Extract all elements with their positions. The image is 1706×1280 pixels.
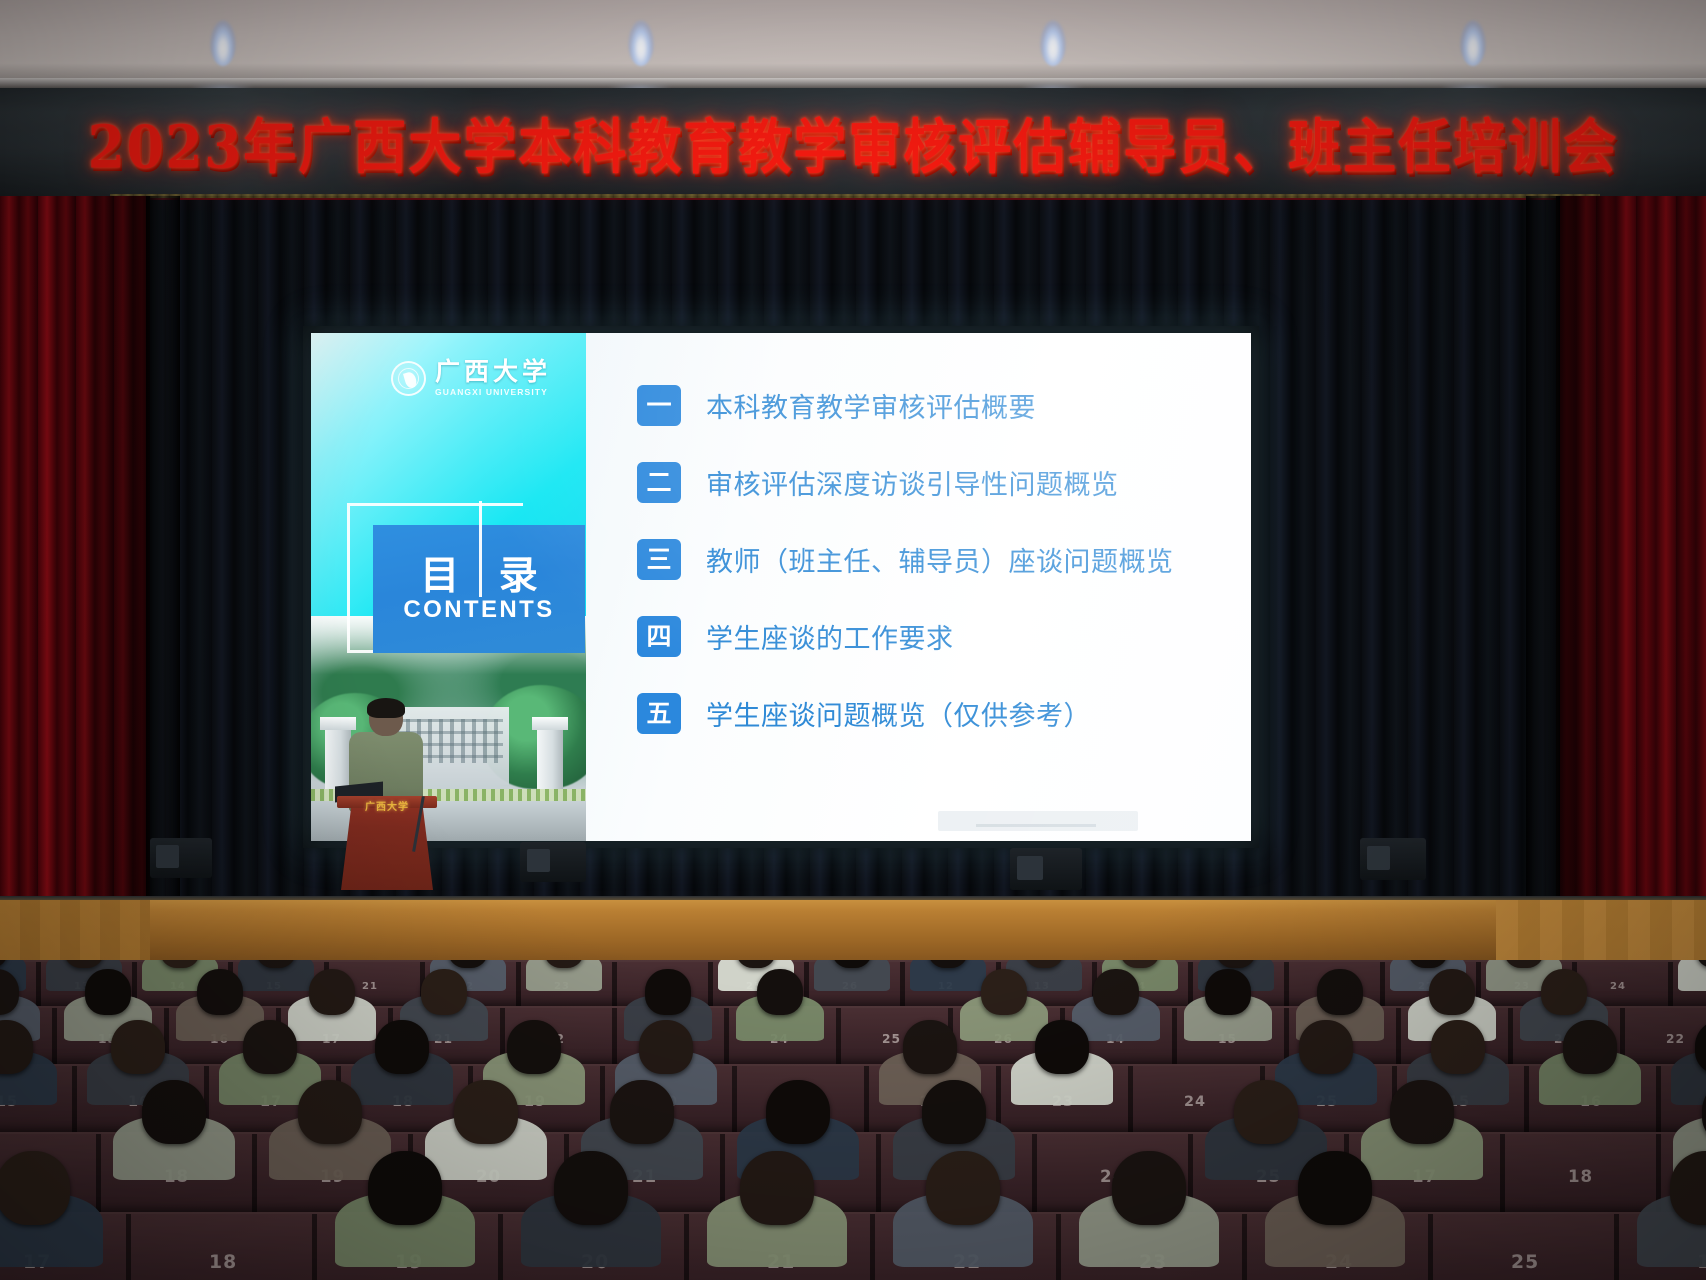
ceiling-spotlight-icon <box>1040 20 1066 66</box>
seat-divider <box>312 1214 317 1280</box>
toc-number-badge: 三 <box>637 539 681 580</box>
seat-divider <box>126 1214 131 1280</box>
audience-member-head <box>1299 1020 1353 1074</box>
stage-monitor-speaker <box>1010 848 1082 890</box>
seat-number: 22 <box>1666 1032 1685 1046</box>
toc-item: 一 本科教育教学审核评估概要 <box>637 385 1227 426</box>
seat-divider <box>1056 1214 1061 1280</box>
ceiling <box>0 0 1706 88</box>
seat-divider <box>1242 1214 1247 1280</box>
ceiling-spotlight-icon <box>1460 20 1486 66</box>
curtain-shading <box>1556 196 1706 908</box>
stage-monitor-speaker <box>520 842 586 882</box>
audience-member-head <box>1035 1020 1089 1074</box>
audience-member-head <box>1234 1080 1298 1144</box>
audience-member-head <box>1298 1151 1372 1225</box>
audience-member-head <box>142 1080 206 1144</box>
audience-member-head <box>554 1151 628 1225</box>
toc-item-label: 学生座谈问题概览（仅供参考） <box>706 694 1091 733</box>
audience-member-head <box>766 1080 830 1144</box>
slide-right-panel: 一 本科教育教学审核评估概要 二 审核评估深度访谈引导性问题概览 三 教师（班主… <box>586 333 1251 841</box>
toc-item: 四 学生座谈的工作要求 <box>637 616 1227 657</box>
slide-footer-placeholder <box>938 811 1138 831</box>
audience-member-head <box>298 1080 362 1144</box>
audience-member-head <box>740 1151 814 1225</box>
audience-member-head <box>926 1151 1000 1225</box>
audience-member-head <box>1563 1020 1617 1074</box>
seat-number: 21 <box>362 981 378 992</box>
audience-member-head <box>1093 969 1139 1015</box>
audience-seating: 1213141521222324252612131415212223242526… <box>0 960 1706 1280</box>
toc-item-label: 审核评估深度访谈引导性问题概览 <box>706 463 1119 502</box>
toc-number-badge: 二 <box>637 462 681 503</box>
event-banner-title: 2023年广西大学本科教育教学审核评估辅导员、班主任培训会 <box>0 95 1706 191</box>
audience-row: 17181920212223242517 <box>0 1212 1706 1280</box>
audience-member-head <box>610 1080 674 1144</box>
seat-divider <box>1428 1214 1433 1280</box>
toc-item: 五 学生座谈问题概览（仅供参考） <box>637 693 1227 734</box>
slide-table-of-contents: 一 本科教育教学审核评估概要 二 审核评估深度访谈引导性问题概览 三 教师（班主… <box>637 385 1227 734</box>
seat-number: 18 <box>1568 1167 1593 1186</box>
ceiling-spotlight-icon <box>210 20 236 66</box>
toc-item: 三 教师（班主任、辅导员）座谈问题概览 <box>637 539 1227 580</box>
curtain-shading <box>0 196 150 908</box>
projection-screen: 广西大学 GUANGXI UNIVERSITY 目 录 CONTENTS <box>311 333 1251 841</box>
toc-item-label: 教师（班主任、辅导员）座谈问题概览 <box>706 540 1174 579</box>
audience-member-head <box>85 969 131 1015</box>
toc-item: 二 审核评估深度访谈引导性问题概览 <box>637 462 1227 503</box>
toc-number-badge: 四 <box>637 616 681 657</box>
seat-divider <box>684 1214 689 1280</box>
audience-member-head <box>1541 969 1587 1015</box>
audience-member-head <box>368 1151 442 1225</box>
speaker-hair <box>367 698 405 718</box>
audience-member-head <box>757 969 803 1015</box>
seat-number: 24 <box>1610 981 1626 992</box>
audience-member-head <box>309 969 355 1015</box>
ceiling-spotlight-icon <box>628 20 654 66</box>
audience-member-head <box>454 1080 518 1144</box>
audience-member-head <box>1431 1020 1485 1074</box>
contents-title-en: CONTENTS <box>403 598 554 622</box>
stage-monitor-speaker <box>1360 838 1426 880</box>
audience-member-head <box>421 969 467 1015</box>
audience-member-head <box>243 1020 297 1074</box>
drape-edge-right <box>1526 196 1560 908</box>
audience-member-head <box>1205 969 1251 1015</box>
seat-number: 18 <box>209 1252 237 1273</box>
audience-member-head <box>981 969 1027 1015</box>
university-logo-text: 广西大学 GUANGXI UNIVERSITY <box>435 359 551 397</box>
audience-member-head <box>645 969 691 1015</box>
toc-item-label: 学生座谈的工作要求 <box>706 617 954 656</box>
audience-member-head <box>197 969 243 1015</box>
seat-divider <box>1614 1214 1619 1280</box>
university-seal-icon <box>391 361 426 396</box>
seat-divider <box>498 1214 503 1280</box>
red-curtain-left <box>0 196 150 908</box>
contents-accent-line <box>479 501 482 597</box>
seat-number: 24 <box>1184 1094 1206 1110</box>
audience-member-head <box>1317 969 1363 1015</box>
audience-member-head <box>507 1020 561 1074</box>
audience-member-head <box>0 1151 70 1225</box>
audience-member-head <box>639 1020 693 1074</box>
audience-member-head <box>111 1020 165 1074</box>
audience-member-head <box>1429 969 1475 1015</box>
toc-number-badge: 一 <box>637 385 681 426</box>
audience-member-head <box>1112 1151 1186 1225</box>
stage-monitor-speaker <box>150 838 212 878</box>
speaker-at-podium: 广西大学 <box>325 700 445 890</box>
toc-item-label: 本科教育教学审核评估概要 <box>706 386 1036 425</box>
audience-member-head <box>903 1020 957 1074</box>
university-logo: 广西大学 GUANGXI UNIVERSITY <box>391 359 551 397</box>
seat-number: 25 <box>1511 1252 1539 1273</box>
auditorium-photo: 2023年广西大学本科教育教学审核评估辅导员、班主任培训会 广西大学 GUANG… <box>0 0 1706 1280</box>
red-curtain-right <box>1556 196 1706 908</box>
seat-divider <box>870 1214 875 1280</box>
audience-member-head <box>375 1020 429 1074</box>
audience-member-head <box>922 1080 986 1144</box>
university-name-en: GUANGXI UNIVERSITY <box>435 387 551 397</box>
drape-edge-left <box>146 196 180 908</box>
seat-number: 25 <box>882 1032 901 1046</box>
toc-number-badge: 五 <box>637 693 681 734</box>
audience-member-head <box>1390 1080 1454 1144</box>
university-name-cn: 广西大学 <box>435 359 551 385</box>
